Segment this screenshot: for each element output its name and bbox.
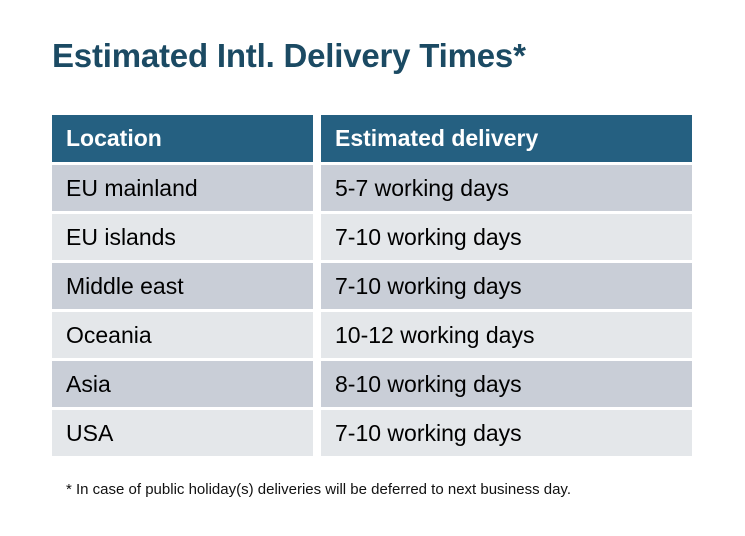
footnote-text: * In case of public holiday(s) deliverie… xyxy=(66,481,571,498)
cell-estimated-delivery: 7-10 working days xyxy=(321,263,692,309)
table-row: EU islands 7-10 working days xyxy=(52,214,692,260)
page-title: Estimated Intl. Delivery Times* xyxy=(52,36,526,76)
cell-estimated-delivery: 7-10 working days xyxy=(321,214,692,260)
cell-location: EU mainland xyxy=(52,165,313,211)
cell-location: Oceania xyxy=(52,312,313,358)
table-row: EU mainland 5-7 working days xyxy=(52,165,692,211)
column-header-estimated-delivery: Estimated delivery xyxy=(321,115,692,162)
column-header-location: Location xyxy=(52,115,313,162)
cell-location: Middle east xyxy=(52,263,313,309)
cell-estimated-delivery: 10-12 working days xyxy=(321,312,692,358)
table-row: Oceania 10-12 working days xyxy=(52,312,692,358)
cell-estimated-delivery: 8-10 working days xyxy=(321,361,692,407)
cell-estimated-delivery: 5-7 working days xyxy=(321,165,692,211)
table-header-row: Location Estimated delivery xyxy=(52,115,692,162)
cell-location: EU islands xyxy=(52,214,313,260)
delivery-times-page: Estimated Intl. Delivery Times* Location… xyxy=(0,0,745,536)
cell-location: USA xyxy=(52,410,313,456)
table-row: USA 7-10 working days xyxy=(52,410,692,456)
table-row: Asia 8-10 working days xyxy=(52,361,692,407)
table-row: Middle east 7-10 working days xyxy=(52,263,692,309)
cell-estimated-delivery: 7-10 working days xyxy=(321,410,692,456)
cell-location: Asia xyxy=(52,361,313,407)
delivery-times-table: Location Estimated delivery EU mainland … xyxy=(52,115,692,456)
